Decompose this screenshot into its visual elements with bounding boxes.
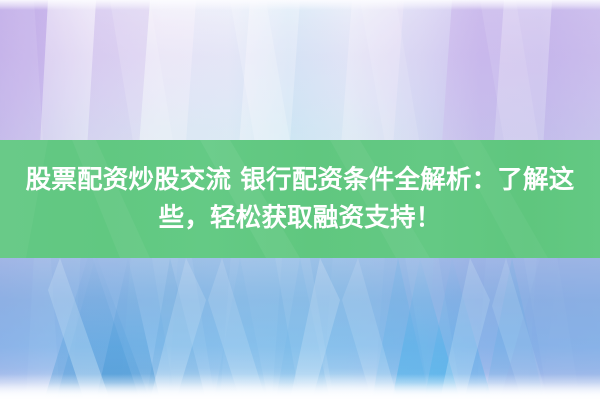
top-highlight-strip (0, 0, 600, 10)
bottom-highlight-strip (0, 374, 600, 400)
banner-title-line-2: 些，轻松获取融资支持！ (159, 199, 442, 237)
title-band: 股票配资炒股交流 银行配资条件全解析：了解这 些，轻松获取融资支持！ (0, 140, 600, 258)
banner-title-line-1: 股票配资炒股交流 银行配资条件全解析：了解这 (26, 161, 575, 199)
article-header-banner: 股票配资炒股交流 银行配资条件全解析：了解这 些，轻松获取融资支持！ (0, 0, 600, 400)
